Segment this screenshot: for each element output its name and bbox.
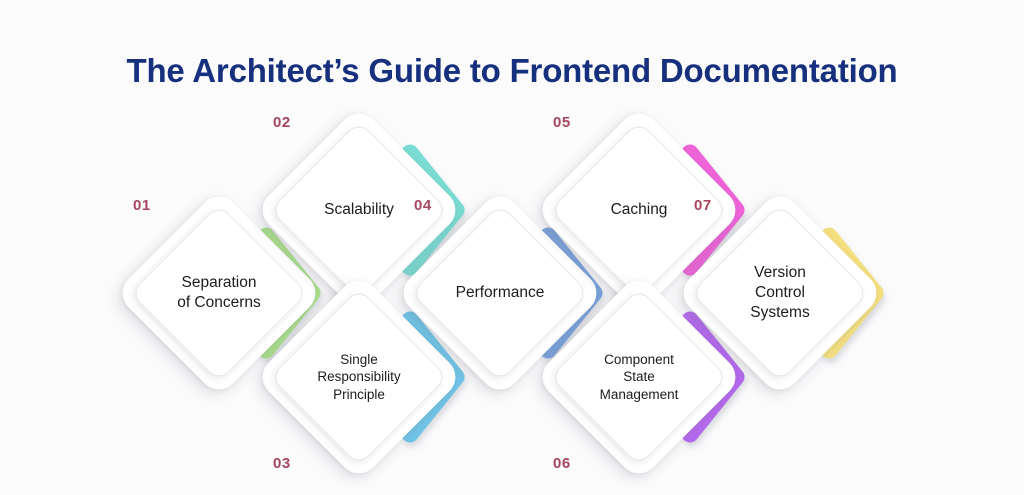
step-number-05: 05 — [553, 114, 571, 131]
step-node-05-label: Caching — [573, 136, 705, 284]
step-node-04[interactable]: Performance 04 — [426, 219, 574, 367]
step-node-07[interactable]: VersionControlSystems 07 — [706, 219, 854, 367]
page-title: The Architect’s Guide to Frontend Docume… — [0, 52, 1024, 90]
step-node-05[interactable]: Caching 05 — [565, 136, 713, 284]
step-number-04: 04 — [414, 197, 432, 214]
step-number-02: 02 — [273, 114, 291, 131]
step-node-02[interactable]: Scalability 02 — [285, 136, 433, 284]
step-node-01-label: Separationof Concerns — [153, 219, 285, 367]
step-number-07: 07 — [694, 197, 712, 214]
step-number-06: 06 — [553, 455, 571, 472]
infographic-canvas: The Architect’s Guide to Frontend Docume… — [0, 0, 1024, 495]
step-node-06-label: ComponentStateManagement — [573, 303, 705, 451]
step-node-06[interactable]: ComponentStateManagement 06 — [565, 303, 713, 451]
step-node-03-label: SingleResponsibilityPrinciple — [293, 303, 425, 451]
step-number-01: 01 — [133, 197, 151, 214]
step-node-01[interactable]: Separationof Concerns 01 — [145, 219, 293, 367]
step-number-03: 03 — [273, 455, 291, 472]
step-node-03[interactable]: SingleResponsibilityPrinciple 03 — [285, 303, 433, 451]
step-node-02-label: Scalability — [293, 136, 425, 284]
step-node-07-label: VersionControlSystems — [714, 219, 846, 367]
step-node-04-label: Performance — [434, 219, 566, 367]
